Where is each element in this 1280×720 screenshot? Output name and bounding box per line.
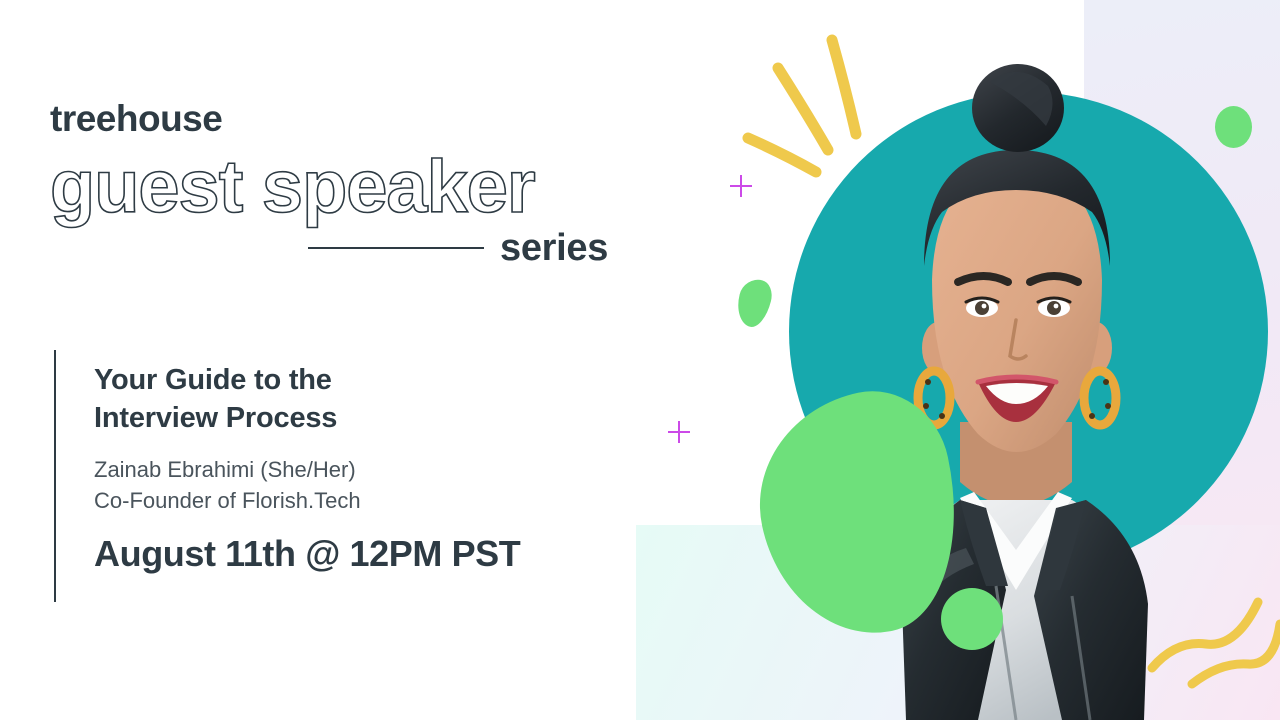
brand-lockup: treehouse guest speaker series	[50, 100, 650, 267]
guest-speaker-promo-poster: treehouse guest speaker series Your Guid…	[0, 0, 1280, 720]
headline-guest-speaker: guest speaker	[50, 147, 650, 227]
series-divider-rule	[308, 247, 484, 249]
event-details: Your Guide to the Interview Process Zain…	[54, 350, 520, 602]
speaker-name: Zainab Ebrahimi (She/Her)	[94, 454, 520, 485]
plus-icon-top	[730, 175, 752, 197]
series-row: series	[50, 229, 650, 267]
green-dot-bottom	[941, 588, 1003, 650]
green-blob-small	[733, 276, 776, 330]
series-label: series	[500, 229, 608, 267]
event-title: Your Guide to the Interview Process	[94, 361, 520, 438]
speaker-role: Co-Founder of Florish.Tech	[94, 485, 520, 516]
event-datetime: August 11th @ 12PM PST	[94, 536, 520, 572]
treehouse-wordmark: treehouse	[50, 100, 650, 137]
plus-icon-middle	[668, 421, 690, 443]
